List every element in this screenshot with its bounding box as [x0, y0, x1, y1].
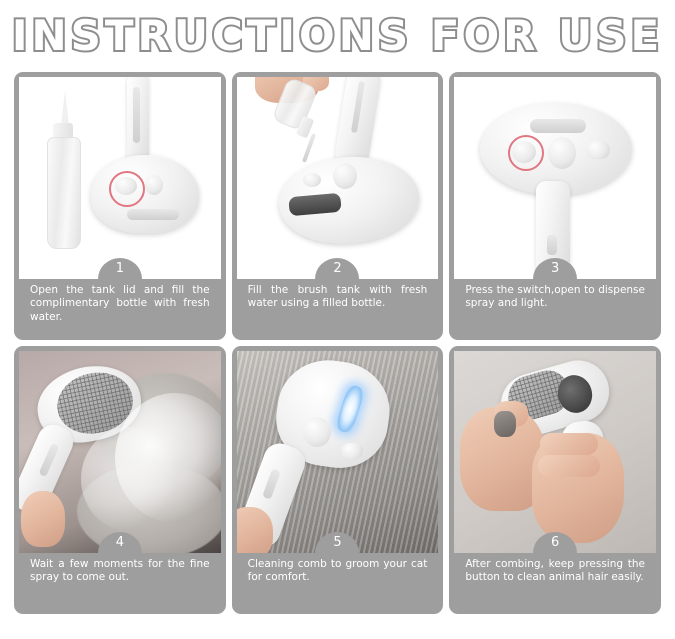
handle-slot-shape — [133, 87, 140, 143]
step-caption: Wait a few moments for the fine spray to… — [19, 553, 221, 614]
brush-base-shape — [91, 155, 199, 233]
base-slot-shape — [530, 119, 586, 133]
step-4-photo: 4 — [19, 351, 221, 553]
center-button[interactable] — [303, 417, 331, 447]
instruction-grid: 1 Open the tank lid and fill the complim… — [0, 72, 675, 614]
step-number-badge: 1 — [98, 258, 142, 279]
step-caption: Open the tank lid and fill the complimen… — [19, 279, 221, 340]
step-5-photo: 5 — [237, 351, 439, 553]
instruction-panel-6: 6 After combing, keep pressing the butto… — [449, 346, 661, 614]
step-caption: Press the switch,open to dispense spray … — [454, 279, 656, 340]
tank-opening[interactable] — [333, 163, 357, 189]
step-caption: Fill the brush tank with fresh water usi… — [237, 279, 439, 340]
step-1-photo: 1 — [19, 77, 221, 279]
instruction-panel-1: 1 Open the tank lid and fill the complim… — [14, 72, 226, 340]
instruction-panel-4: 4 Wait a few moments for the fine spray … — [14, 346, 226, 614]
base-slot-shape — [127, 209, 179, 220]
hand-shape — [21, 491, 65, 547]
hand-shape — [237, 507, 273, 553]
step-caption: After combing, keep pressing the button … — [454, 553, 656, 614]
spray-mist — [81, 427, 177, 531]
side-button[interactable] — [586, 141, 610, 159]
bottle-tip-icon — [61, 91, 69, 125]
step-3-photo: 3 — [454, 77, 656, 279]
bottle-body-icon — [47, 137, 81, 249]
step-number-badge: 2 — [315, 258, 359, 279]
collected-hair — [494, 411, 516, 437]
header: INSTRUCTIONS FOR USE — [0, 0, 675, 72]
finger-shape — [540, 433, 598, 455]
instruction-panel-3: 3 Press the switch,open to dispense spra… — [449, 72, 661, 340]
side-button[interactable] — [341, 443, 363, 459]
finger-shape — [538, 455, 600, 477]
step-2-photo: 2 — [237, 77, 439, 279]
spray-button[interactable] — [145, 175, 163, 195]
instruction-panel-2: 2 Fill the brush tank with fresh water u… — [232, 72, 444, 340]
step-6-photo: 6 — [454, 351, 656, 553]
highlight-ring — [109, 171, 145, 207]
page-title: INSTRUCTIONS FOR USE — [12, 15, 663, 57]
step-caption: Cleaning comb to groom your cat for comf… — [237, 553, 439, 614]
handle-slot-shape — [547, 235, 557, 255]
instruction-panel-5: 5 Cleaning comb to groom your cat for co… — [232, 346, 444, 614]
tank-lid-button[interactable] — [303, 173, 321, 187]
